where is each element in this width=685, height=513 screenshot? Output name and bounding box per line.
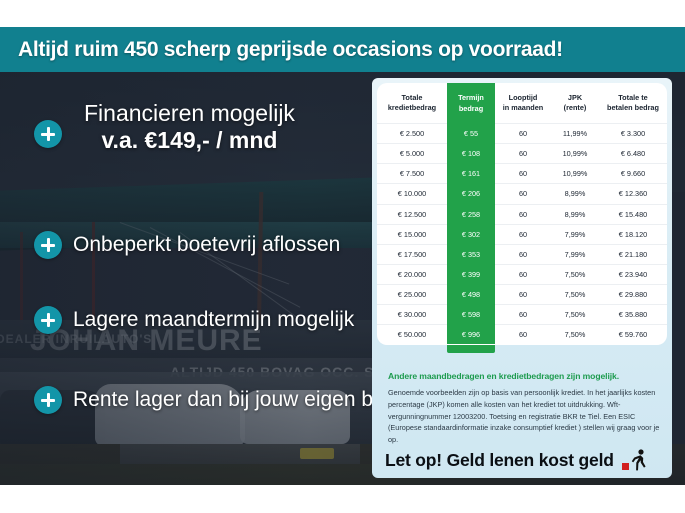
table-row: € 10.000€ 206608,99%€ 12.360 bbox=[377, 184, 667, 204]
credit-warning: Let op! Geld lenen kost geld bbox=[385, 449, 648, 471]
table-cell: € 6.480 bbox=[599, 144, 667, 164]
table-cell: 60 bbox=[495, 325, 551, 345]
headline-text: Altijd ruim 450 scherp geprijsde occasio… bbox=[18, 38, 563, 62]
table-cell: € 598 bbox=[447, 305, 495, 325]
table-cell: 60 bbox=[495, 284, 551, 304]
table-cell: € 498 bbox=[447, 284, 495, 304]
column-header-totale-kredietbedrag: Totale kredietbedrag bbox=[377, 84, 447, 124]
disclaimer-body: Genoemde voorbeelden zijn op basis van p… bbox=[388, 387, 660, 446]
column-header-jkp: JPK (rente) bbox=[551, 84, 599, 124]
table-row: € 30.000€ 598607,50%€ 35.880 bbox=[377, 305, 667, 325]
red-block-icon bbox=[622, 463, 629, 470]
list-item-label: Lagere maandtermijn mogelijk bbox=[73, 308, 354, 332]
table-row: € 7.500€ 1616010,99%€ 9.660 bbox=[377, 164, 667, 184]
table-cell: 7,99% bbox=[551, 224, 599, 244]
table-cell: € 59.760 bbox=[599, 325, 667, 345]
table-cell: 10,99% bbox=[551, 144, 599, 164]
table-cell: € 30.000 bbox=[377, 305, 447, 325]
column-header-termijn-bedrag: Termijn bedrag bbox=[447, 84, 495, 124]
table-body: € 2.500€ 556011,99%€ 3.300€ 5.000€ 10860… bbox=[377, 124, 667, 345]
table-cell: € 353 bbox=[447, 244, 495, 264]
table-cell: 60 bbox=[495, 144, 551, 164]
table-cell: 60 bbox=[495, 224, 551, 244]
table-cell: 60 bbox=[495, 164, 551, 184]
table-cell: 11,99% bbox=[551, 124, 599, 144]
credit-warning-text: Let op! Geld lenen kost geld bbox=[385, 450, 614, 471]
table-cell: € 29.880 bbox=[599, 284, 667, 304]
table-cell: € 15.000 bbox=[377, 224, 447, 244]
table-cell: 7,50% bbox=[551, 264, 599, 284]
table-cell: € 55 bbox=[447, 124, 495, 144]
feature-list: Financieren mogelijk v.a. €149,- / mnd O… bbox=[0, 72, 372, 485]
table-cell: 60 bbox=[495, 184, 551, 204]
table-cell: 7,99% bbox=[551, 244, 599, 264]
advertisement-banner: Altijd ruim 450 scherp geprijsde occasio… bbox=[0, 0, 685, 513]
list-item: Rente lager dan bij jouw eigen bank bbox=[34, 386, 407, 414]
list-item: Financieren mogelijk v.a. €149,- / mnd bbox=[34, 100, 295, 154]
table-cell: € 18.120 bbox=[599, 224, 667, 244]
table-cell: € 10.000 bbox=[377, 184, 447, 204]
table-cell: € 15.480 bbox=[599, 204, 667, 224]
table-cell: 10,99% bbox=[551, 164, 599, 184]
list-item-label: Onbeperkt boetevrij aflossen bbox=[73, 233, 340, 257]
table-cell: € 17.500 bbox=[377, 244, 447, 264]
plus-icon bbox=[34, 386, 62, 414]
financing-table-card: Totale kredietbedrag Termijn bedrag Loop… bbox=[377, 83, 667, 345]
table-cell: € 161 bbox=[447, 164, 495, 184]
table-cell: 8,99% bbox=[551, 184, 599, 204]
table-cell: € 23.940 bbox=[599, 264, 667, 284]
table-cell: € 25.000 bbox=[377, 284, 447, 304]
table-cell: 60 bbox=[495, 264, 551, 284]
table-cell: € 302 bbox=[447, 224, 495, 244]
table-cell: € 21.180 bbox=[599, 244, 667, 264]
disclaimer-heading: Andere maandbedragen en kredietbedragen … bbox=[388, 371, 660, 381]
table-cell: 7,50% bbox=[551, 325, 599, 345]
table-cell: € 9.660 bbox=[599, 164, 667, 184]
table-row: € 15.000€ 302607,99%€ 18.120 bbox=[377, 224, 667, 244]
table-cell: € 50.000 bbox=[377, 325, 447, 345]
plus-icon bbox=[34, 120, 62, 148]
table-cell: 8,99% bbox=[551, 204, 599, 224]
walking-man-glyph bbox=[630, 449, 648, 471]
table-cell: € 2.500 bbox=[377, 124, 447, 144]
disclaimer: Andere maandbedragen en kredietbedragen … bbox=[388, 371, 660, 446]
table-cell: 7,50% bbox=[551, 305, 599, 325]
table-cell: € 20.000 bbox=[377, 264, 447, 284]
table-cell: 60 bbox=[495, 124, 551, 144]
table-cell: € 5.000 bbox=[377, 144, 447, 164]
table-cell: € 12.500 bbox=[377, 204, 447, 224]
table-row: € 5.000€ 1086010,99%€ 6.480 bbox=[377, 144, 667, 164]
table-cell: 60 bbox=[495, 305, 551, 325]
table-cell: € 7.500 bbox=[377, 164, 447, 184]
list-item: Lagere maandtermijn mogelijk bbox=[34, 306, 354, 334]
column-header-totale-te-betalen: Totale te betalen bedrag bbox=[599, 84, 667, 124]
walking-man-icon bbox=[622, 449, 648, 471]
financing-table: Totale kredietbedrag Termijn bedrag Loop… bbox=[377, 83, 667, 344]
table-cell: € 3.300 bbox=[599, 124, 667, 144]
table-row: € 50.000€ 996607,50%€ 59.760 bbox=[377, 325, 667, 345]
table-row: € 12.500€ 258608,99%€ 15.480 bbox=[377, 204, 667, 224]
table-cell: € 996 bbox=[447, 325, 495, 345]
list-item-label: Financieren mogelijk bbox=[84, 100, 295, 127]
table-cell: 60 bbox=[495, 204, 551, 224]
table-row: € 25.000€ 498607,50%€ 29.880 bbox=[377, 284, 667, 304]
table-cell: € 12.360 bbox=[599, 184, 667, 204]
table-row: € 2.500€ 556011,99%€ 3.300 bbox=[377, 124, 667, 144]
plus-icon bbox=[34, 231, 62, 259]
headline-banner: Altijd ruim 450 scherp geprijsde occasio… bbox=[0, 27, 685, 72]
table-row: € 17.500€ 353607,99%€ 21.180 bbox=[377, 244, 667, 264]
plus-icon bbox=[34, 306, 62, 334]
column-header-looptijd: Looptijd in maanden bbox=[495, 84, 551, 124]
table-cell: € 206 bbox=[447, 184, 495, 204]
table-cell: 7,50% bbox=[551, 284, 599, 304]
table-header-row: Totale kredietbedrag Termijn bedrag Loop… bbox=[377, 84, 667, 124]
list-item-sublabel: v.a. €149,- / mnd bbox=[101, 127, 277, 154]
table-cell: € 399 bbox=[447, 264, 495, 284]
table-cell: 60 bbox=[495, 244, 551, 264]
table-cell: € 35.880 bbox=[599, 305, 667, 325]
table-row: € 20.000€ 399607,50%€ 23.940 bbox=[377, 264, 667, 284]
list-item: Onbeperkt boetevrij aflossen bbox=[34, 231, 340, 259]
table-cell: € 258 bbox=[447, 204, 495, 224]
table-cell: € 108 bbox=[447, 144, 495, 164]
list-item-label: Rente lager dan bij jouw eigen bank bbox=[73, 388, 407, 412]
